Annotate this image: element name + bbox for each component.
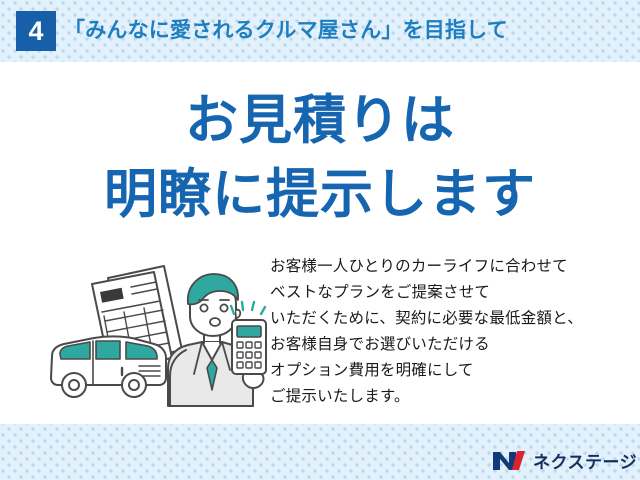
headline: お見積りは 明瞭に提示します — [0, 84, 640, 232]
body-line: ご提示いたします。 — [270, 384, 630, 410]
headline-line-2: 明瞭に提示します — [0, 158, 640, 232]
brand-name: ネクステージ — [533, 448, 637, 473]
body-paragraph: お客様一人ひとりのカーライフに合わせて ベストなプランをご提案させて いただくた… — [270, 254, 630, 410]
brand-logo: ネクステージ — [492, 446, 637, 474]
body-line: お客様自身でお選びいただける — [270, 332, 630, 358]
body-line: オプション費用を明確にして — [270, 358, 630, 384]
van-illustration — [51, 337, 166, 398]
salesman-illustration-svg — [36, 258, 274, 418]
nextage-n-logo-icon — [492, 448, 526, 472]
body-line: ベストなプランをご提案させて — [270, 280, 630, 306]
content-card: お見積りは 明瞭に提示します お客様一人ひとりのカーライフに合わせて ベストなプ… — [0, 62, 640, 424]
section-number-badge: 4 — [16, 11, 56, 51]
body-line: いただくために、契約に必要な最低金額と、 — [270, 306, 630, 332]
body-line: お客様一人ひとりのカーライフに合わせて — [270, 254, 630, 280]
header-title: 「みんなに愛されるクルマ屋さん」を目指して — [64, 13, 508, 49]
calculator-icon — [232, 320, 266, 374]
salesman-illustration — [36, 258, 274, 418]
headline-line-1: お見積りは — [0, 84, 640, 158]
promo-banner: 4 「みんなに愛されるクルマ屋さん」を目指して お見積りは 明瞭に提示します お… — [0, 0, 640, 480]
banner-header: 4 「みんなに愛されるクルマ屋さん」を目指して — [0, 0, 640, 62]
